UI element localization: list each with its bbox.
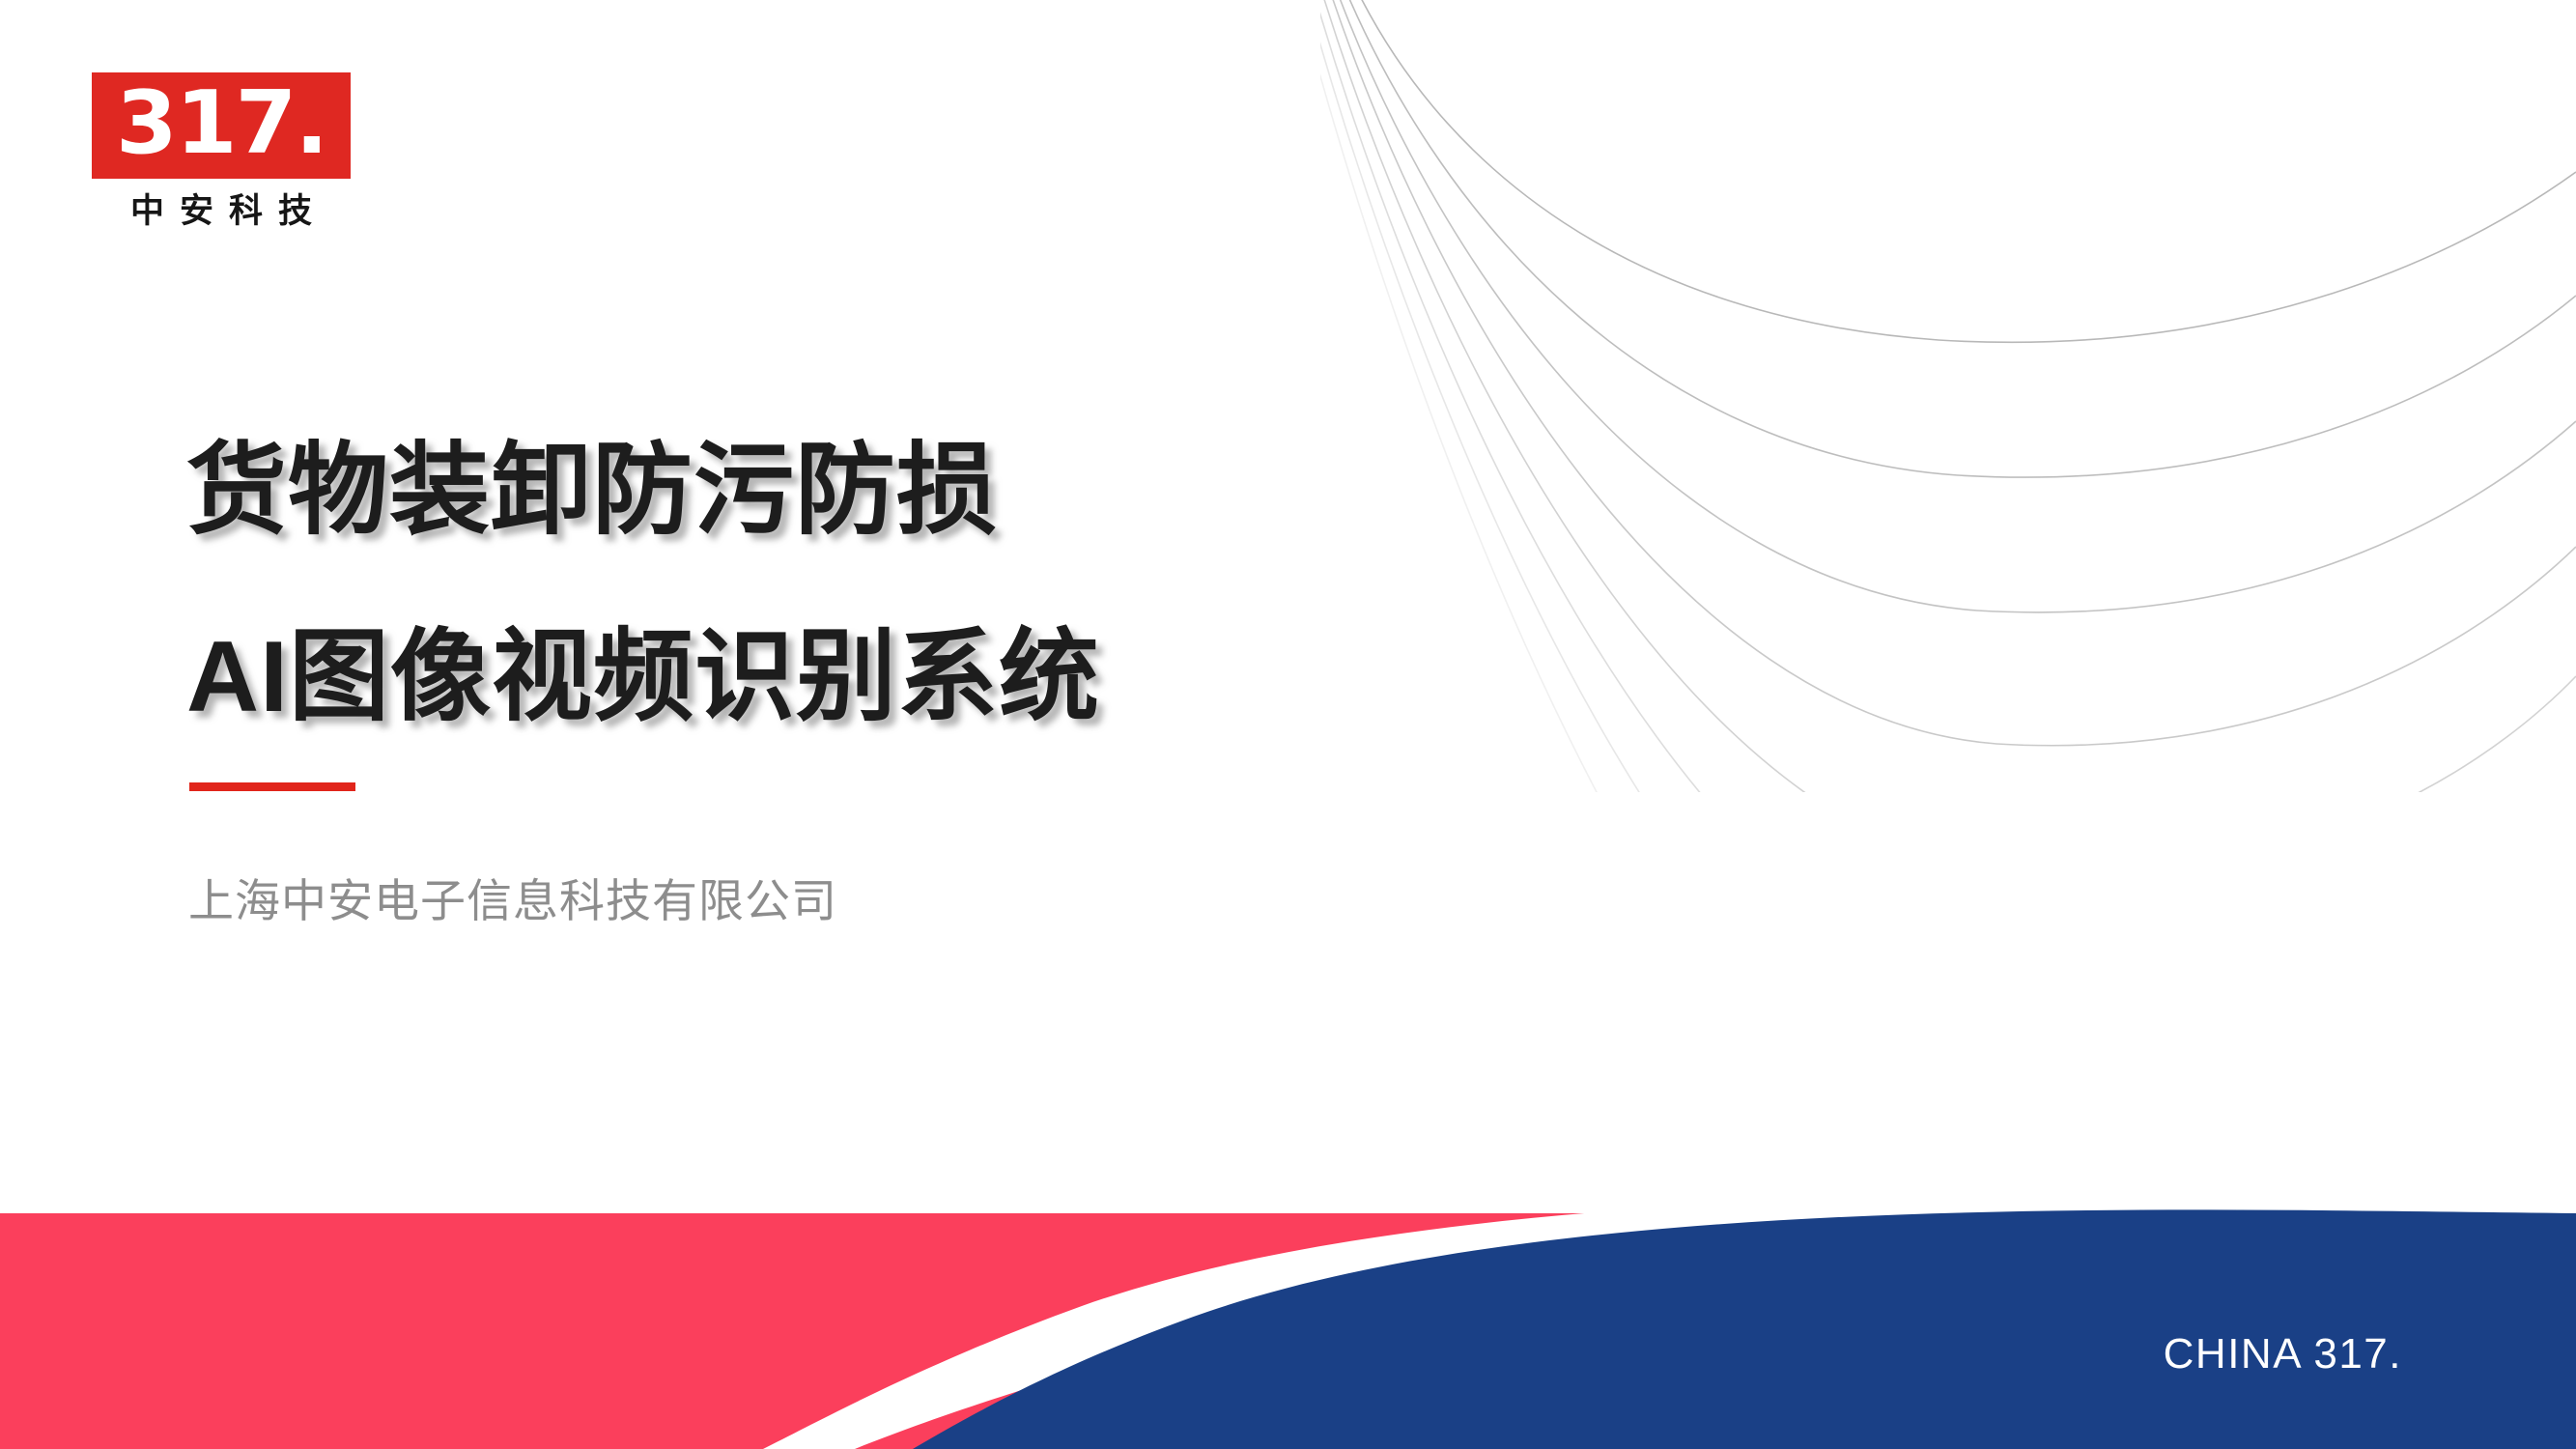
company-logo: 317. 中安科技 <box>92 72 351 231</box>
title-line-1: 货物装卸防污防损 <box>186 398 1100 584</box>
logo-mark-text: 317. <box>116 80 326 167</box>
page-title: 货物装卸防污防损 AI图像视频识别系统 <box>186 398 1100 771</box>
title-slide: 317. 中安科技 货物装卸防污防损 AI图像视频识别系统 上海中安电子信息科技… <box>0 0 2576 1449</box>
logo-mark-317: 317. <box>92 72 351 179</box>
banner-caption-china-317: CHINA 317. <box>2164 1329 2402 1379</box>
red-divider-rule <box>189 782 355 791</box>
bottom-banner <box>0 1200 2576 1449</box>
title-line-2: AI图像视频识别系统 <box>186 584 1100 771</box>
subtitle-company-name: 上海中安电子信息科技有限公司 <box>188 872 837 930</box>
curved-line-fan-decoration <box>1320 0 2576 792</box>
logo-subtitle-text: 中安科技 <box>92 192 351 231</box>
